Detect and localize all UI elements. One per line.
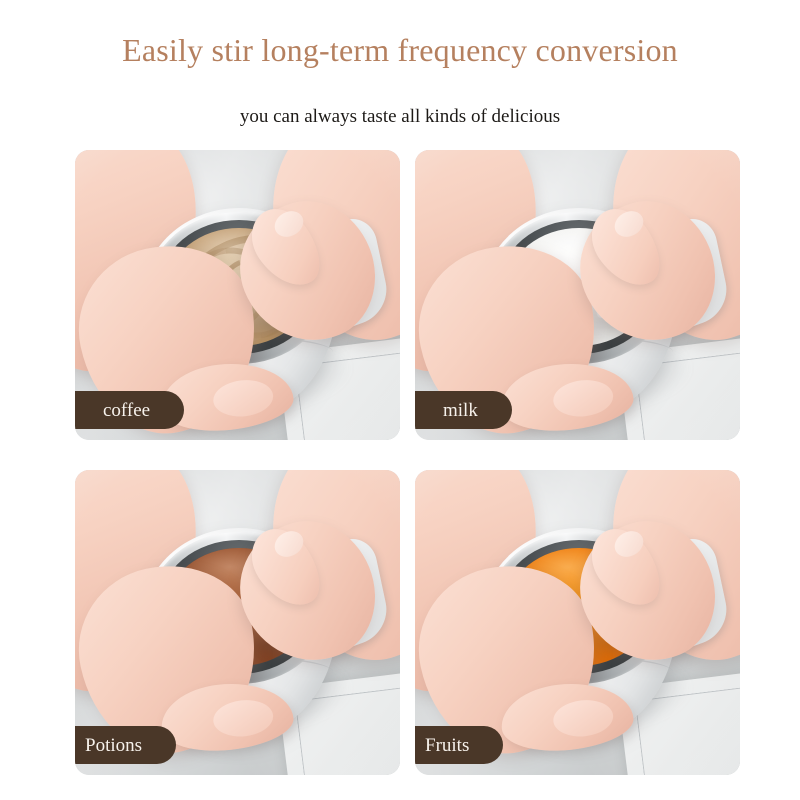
page-subtitle: you can always taste all kinds of delici…: [0, 104, 800, 130]
beverage-panel-grid: coffee: [75, 150, 725, 775]
beverage-panel-potions[interactable]: Potions: [75, 470, 400, 775]
caption-label: Potions: [85, 736, 142, 755]
caption-label: milk: [443, 401, 478, 420]
beverage-panel-fruits[interactable]: Fruits: [415, 470, 740, 775]
page-title: Easily stir long-term frequency conversi…: [0, 30, 800, 70]
caption-badge-coffee: coffee: [75, 391, 184, 429]
caption-label: Fruits: [425, 736, 469, 755]
caption-badge-fruits: Fruits: [415, 726, 503, 764]
caption-badge-potions: Potions: [75, 726, 176, 764]
beverage-panel-milk[interactable]: milk: [415, 150, 740, 440]
product-feature-page: Easily stir long-term frequency conversi…: [0, 0, 800, 800]
caption-label: coffee: [103, 401, 150, 420]
beverage-panel-coffee[interactable]: coffee: [75, 150, 400, 440]
caption-badge-milk: milk: [415, 391, 512, 429]
